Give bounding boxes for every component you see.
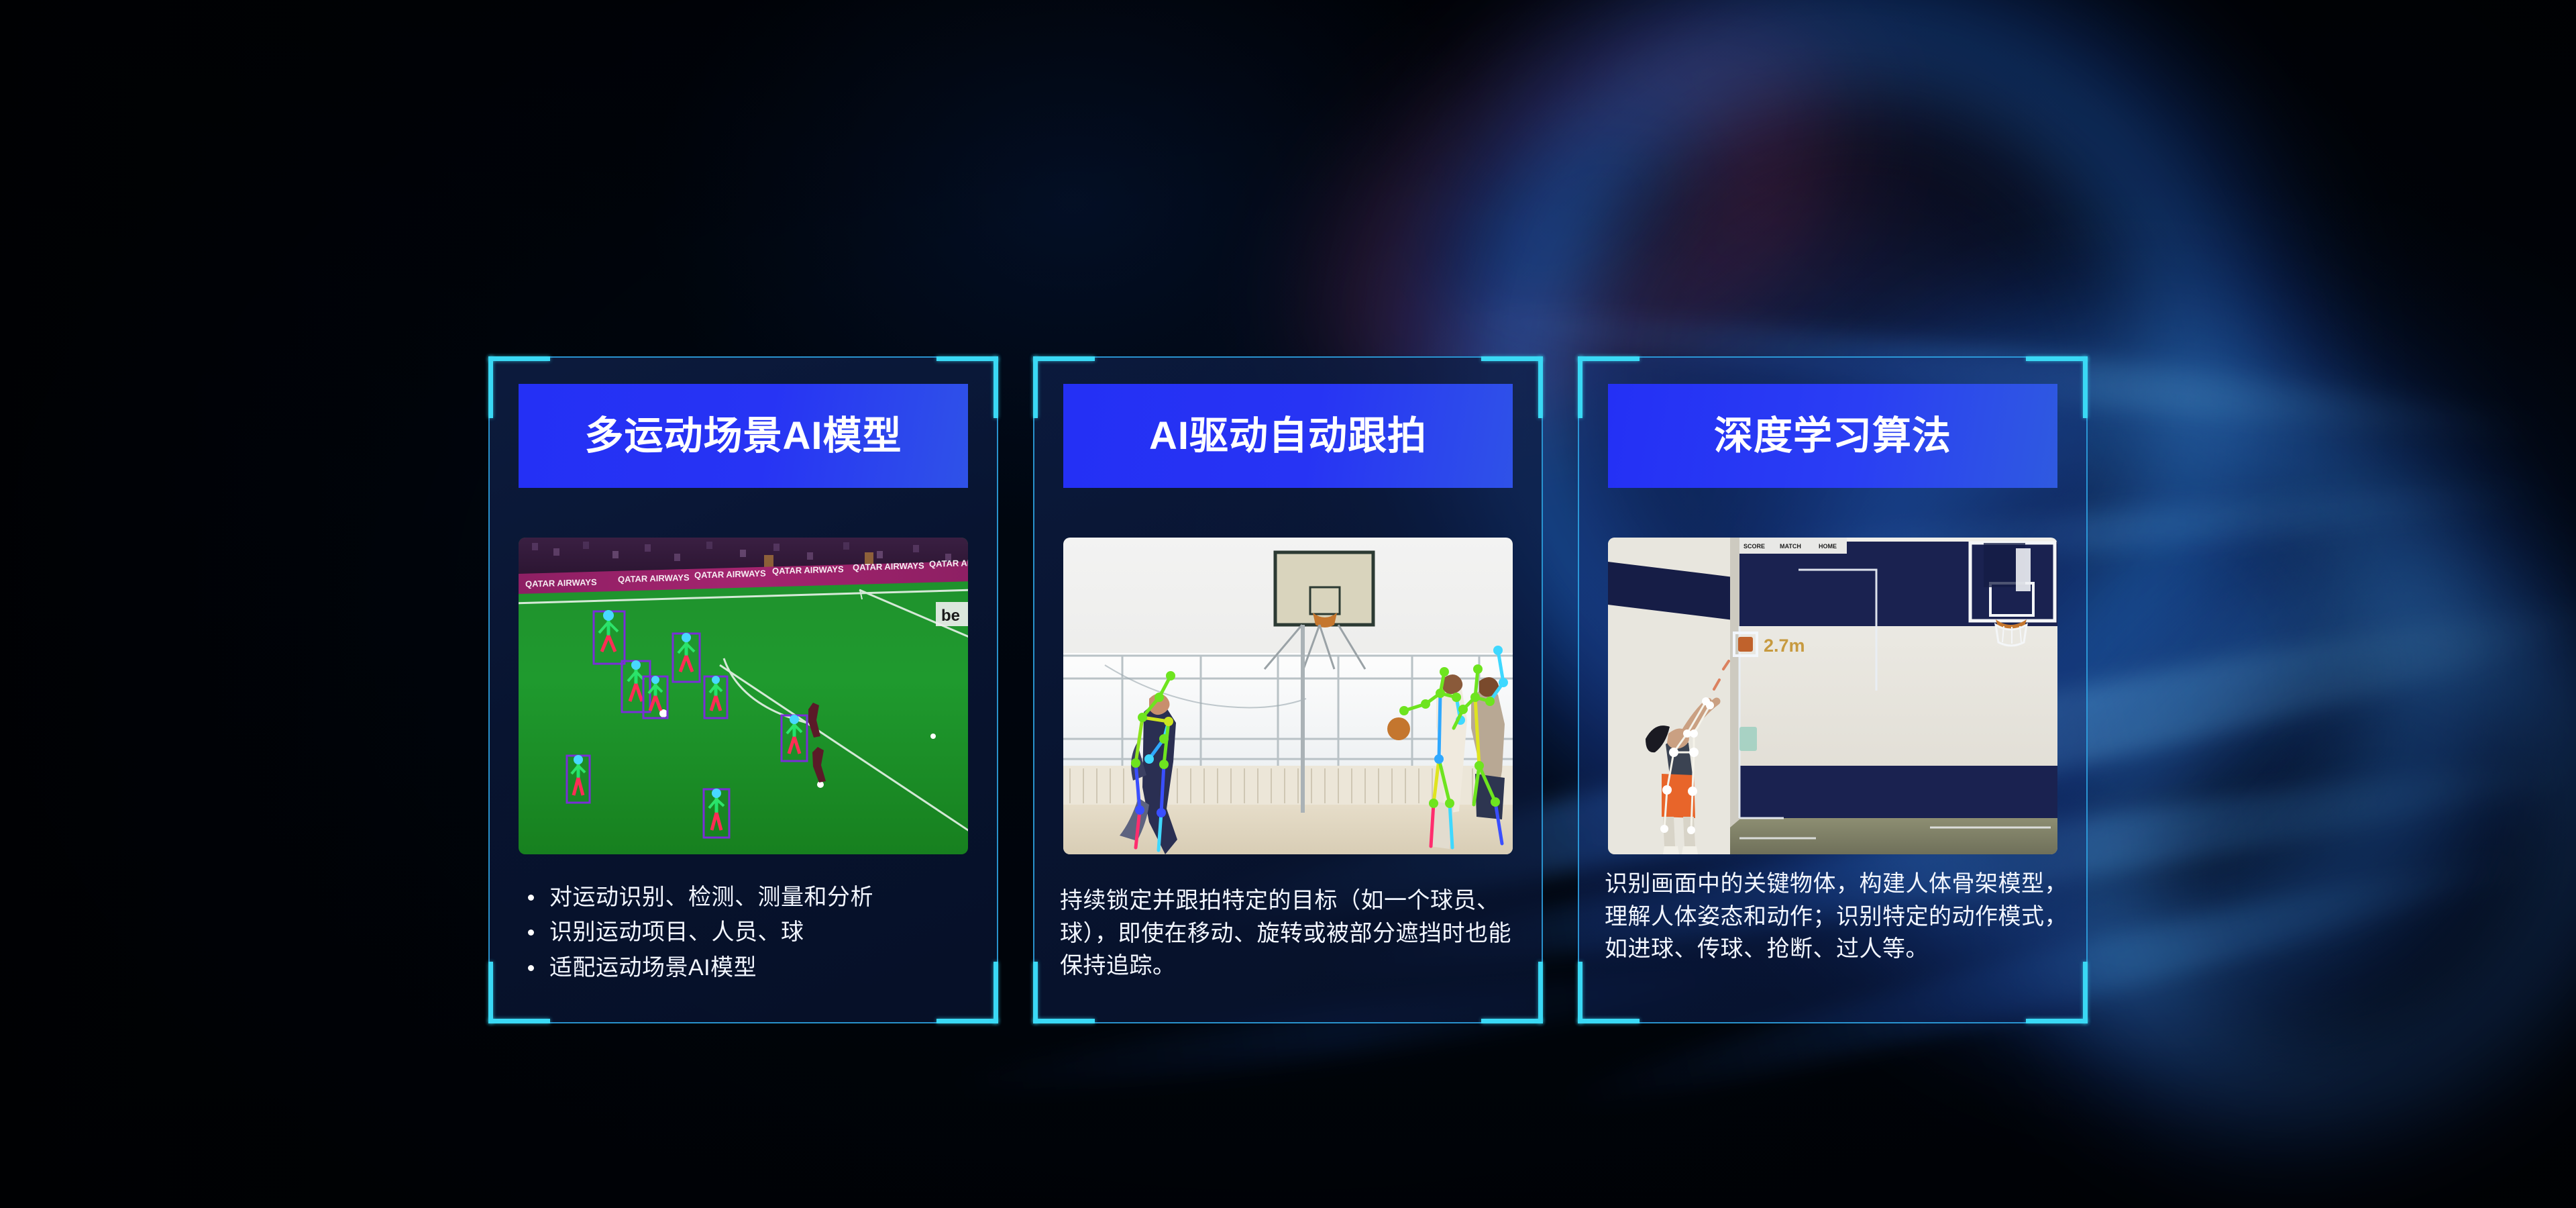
card-body: 识别画面中的关键物体，构建人体骨架模型，理解人体姿态和动作；识别特定的动作模式，… (1605, 868, 2068, 966)
soccer-pose-detection-thumbnail[interactable]: QATAR AIRWAYS QATAR AIRWAYS QATAR AIRWAY… (519, 538, 968, 854)
feature-card-multi-sport-ai-model[interactable]: 多运动场景AI模型 (483, 351, 1004, 1029)
basketball-gym-pose-tracking-thumbnail[interactable] (1063, 538, 1513, 854)
feature-card-ai-auto-tracking[interactable]: AI驱动自动跟拍 (1028, 351, 1548, 1029)
basketball-shot-measurement-thumbnail[interactable]: SCOREMATCHHOME 2.7m (1608, 538, 2057, 854)
card-title-banner: AI驱动自动跟拍 (1063, 384, 1513, 488)
card-frame-line-bottom (488, 1022, 998, 1023)
feature-card-deep-learning-algorithm[interactable]: 深度学习算法 (1572, 351, 2093, 1029)
card-title-banner: 深度学习算法 (1608, 384, 2057, 488)
card-description: 识别画面中的关键物体，构建人体骨架模型，理解人体姿态和动作；识别特定的动作模式，… (1605, 868, 2068, 966)
card-title: 深度学习算法 (1714, 417, 1951, 456)
list-item: 对运动识别、检测、测量和分析 (519, 881, 975, 913)
svg-text:QATAR AIRWAYS: QATAR AIRWAYS (618, 572, 690, 585)
card-frame-line-top (488, 356, 998, 358)
list-item: 识别运动项目、人员、球 (519, 916, 975, 948)
card-frame-line-left (1033, 356, 1034, 1023)
card-body: 持续锁定并跟拍特定的目标（如一个球员、球），即使在移动、旋转或被部分遮挡时也能保… (1060, 885, 1523, 983)
feature-card-row: 多运动场景AI模型 (483, 351, 2093, 1029)
card-body: 对运动识别、检测、测量和分析 识别运动项目、人员、球 适配运动场景AI模型 (519, 881, 975, 987)
card-frame-line-right (1542, 356, 1543, 1023)
card-frame-line-left (1578, 356, 1579, 1023)
card-description: 持续锁定并跟拍特定的目标（如一个球员、球），即使在移动、旋转或被部分遮挡时也能保… (1060, 885, 1523, 983)
card-frame-line-top (1033, 356, 1543, 358)
feature-bullet-list: 对运动识别、检测、测量和分析 识别运动项目、人员、球 适配运动场景AI模型 (519, 881, 975, 984)
card-frame-line-left (488, 356, 490, 1023)
card-frame-line-bottom (1578, 1022, 2088, 1023)
svg-text:QATAR AIRWAYS: QATAR AIRWAYS (853, 560, 924, 572)
card-title: 多运动场景AI模型 (584, 417, 902, 456)
svg-text:2.7m: 2.7m (1764, 636, 1805, 656)
svg-text:QATAR AIRWAYS: QATAR AIRWAYS (525, 577, 597, 589)
card-title: AI驱动自动跟拍 (1149, 417, 1427, 456)
svg-text:QATAR AIRWAYS: QATAR AIRWAYS (772, 564, 844, 576)
svg-text:SCORE: SCORE (1743, 543, 1765, 550)
card-frame-line-right (997, 356, 998, 1023)
svg-text:HOME: HOME (1819, 543, 1837, 550)
svg-text:MATCH: MATCH (1780, 543, 1801, 550)
card-title-banner: 多运动场景AI模型 (519, 384, 968, 488)
svg-text:QATAR AIRWAYS: QATAR AIRWAYS (694, 568, 766, 581)
card-frame-line-bottom (1033, 1022, 1543, 1023)
card-frame-line-right (2086, 356, 2088, 1023)
list-item: 适配运动场景AI模型 (519, 952, 975, 984)
svg-text:QATAR AIRWAYS: QATAR AIRWAYS (929, 557, 968, 569)
svg-text:be: be (941, 607, 960, 625)
card-frame-line-top (1578, 356, 2088, 358)
